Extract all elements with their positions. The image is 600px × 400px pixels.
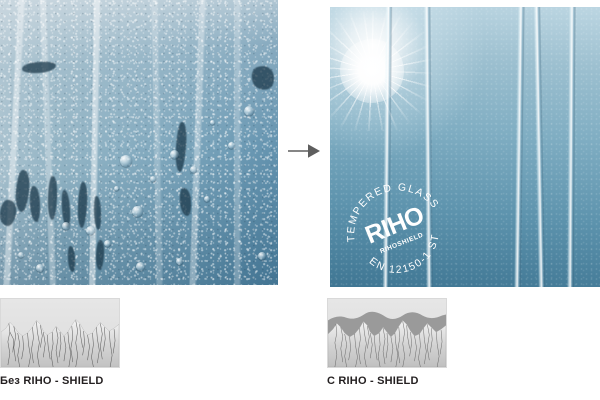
water-droplet <box>204 196 210 202</box>
caption-after: С RIHO - SHIELD <box>327 375 419 387</box>
water-droplet <box>190 166 197 173</box>
water-droplet <box>228 142 235 149</box>
water-droplet <box>120 155 132 167</box>
photo-after-coated-glass: TEMPERED GLASS EN 12150-1 ST RIHO RIHOSH… <box>330 7 600 287</box>
water-droplet <box>18 252 24 258</box>
water-streak-overlay <box>0 0 278 285</box>
water-droplet <box>114 186 119 191</box>
water-droplet <box>150 176 156 182</box>
water-droplet <box>210 120 215 125</box>
water-droplet <box>136 262 145 271</box>
caption-before: Без RIHO - SHIELD <box>0 375 104 387</box>
cross-section-diagram-coated <box>327 298 447 368</box>
water-droplet <box>132 206 143 217</box>
photo-before-untreated-glass <box>0 0 278 285</box>
water-droplet <box>244 106 254 116</box>
water-droplet <box>62 222 70 230</box>
water-droplet <box>258 252 266 260</box>
water-droplet <box>104 240 111 247</box>
water-droplet <box>170 150 179 159</box>
water-droplet <box>36 264 44 272</box>
arrow-right-icon <box>286 138 322 164</box>
cross-section-diagram-untreated <box>0 298 120 368</box>
water-droplet <box>176 258 183 265</box>
sun-core-glow <box>340 39 404 103</box>
water-droplet <box>86 226 95 235</box>
